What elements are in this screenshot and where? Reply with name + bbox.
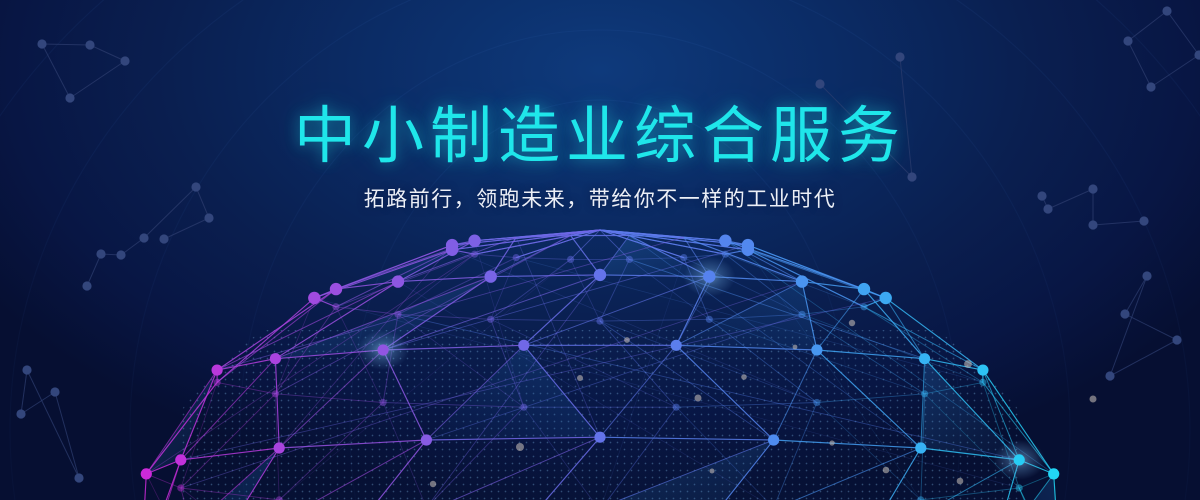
dome-edge xyxy=(516,258,983,383)
dome-node xyxy=(917,496,924,500)
dome-edge xyxy=(1019,488,1060,500)
dome-edge xyxy=(774,350,817,440)
dome-node xyxy=(813,399,820,406)
dome-edge xyxy=(676,407,773,500)
dome-node xyxy=(860,303,867,310)
dome-node xyxy=(1048,468,1059,479)
dome-node xyxy=(175,454,186,465)
dome-node xyxy=(742,239,754,251)
dome-edge xyxy=(475,254,517,257)
dome-node xyxy=(308,292,320,304)
floating-speck xyxy=(516,443,524,451)
dome-edge xyxy=(217,237,684,370)
dome-edge xyxy=(426,407,523,500)
dome-edge xyxy=(600,321,817,402)
dome-edge xyxy=(339,440,426,500)
dome-node xyxy=(706,316,713,323)
dome-edge xyxy=(921,488,1019,500)
dome-edge xyxy=(398,314,524,407)
dome-edge xyxy=(181,382,217,488)
floating-speck xyxy=(577,375,583,381)
dome-edge xyxy=(692,440,774,500)
floating-speck xyxy=(624,337,630,343)
dome-node xyxy=(798,311,805,318)
dome-edge xyxy=(600,319,709,321)
floating-speck xyxy=(849,320,855,326)
dome-node xyxy=(567,256,574,263)
dome-node xyxy=(1016,484,1023,491)
dome-edge xyxy=(339,437,600,500)
dome-node xyxy=(703,270,715,282)
dome-node xyxy=(921,390,928,397)
dome-node xyxy=(811,344,822,355)
dome-node xyxy=(485,270,497,282)
dome-node xyxy=(722,251,729,258)
dome-node xyxy=(214,379,221,386)
dome-edge xyxy=(491,319,600,321)
dome-node xyxy=(177,484,184,491)
floating-speck xyxy=(883,467,890,474)
dome-edge xyxy=(676,345,773,440)
dome-node xyxy=(380,399,387,406)
dome-node xyxy=(212,365,223,376)
dome-edge xyxy=(802,307,864,315)
dome-node xyxy=(796,275,808,287)
dome-edge xyxy=(398,277,491,282)
dome-node xyxy=(626,256,633,263)
dome-edge xyxy=(279,440,426,448)
dome-node xyxy=(471,251,478,258)
hero-banner: 中小制造业综合服务 拓路前行，领跑未来，带给你不一样的工业时代 xyxy=(0,0,1200,500)
dome-node xyxy=(394,311,401,318)
dome-edge xyxy=(886,298,983,370)
dome-node xyxy=(594,432,605,443)
dome-edge xyxy=(398,314,1019,460)
dome-edge xyxy=(210,448,279,500)
dome-edge xyxy=(210,440,426,500)
floating-speck xyxy=(710,469,715,474)
dome-node xyxy=(919,353,930,364)
dome-node xyxy=(1014,454,1025,465)
floating-speck xyxy=(793,345,798,350)
dome-edge xyxy=(217,382,275,393)
dome-edge xyxy=(181,488,340,500)
dome-edge xyxy=(676,403,817,408)
dome-node xyxy=(330,283,342,295)
dome-edge xyxy=(217,289,336,382)
dome-edge xyxy=(181,448,279,460)
dome-edge xyxy=(600,437,774,440)
dome-edge xyxy=(774,403,817,500)
dome-node xyxy=(332,303,339,310)
dome-node xyxy=(513,254,520,261)
dome-node xyxy=(858,283,870,295)
dome-node xyxy=(276,496,283,500)
floating-speck xyxy=(1090,396,1097,403)
dome-node xyxy=(880,292,892,304)
dome-node xyxy=(518,340,529,351)
dome-node xyxy=(392,275,404,287)
dome-node xyxy=(274,442,285,453)
dome-node xyxy=(487,316,494,323)
floating-speck xyxy=(957,478,964,485)
dome-node xyxy=(270,353,281,364)
dome-wireframe xyxy=(0,0,1200,500)
floating-speck xyxy=(695,395,702,402)
dome-node xyxy=(421,434,432,445)
floating-speck xyxy=(964,360,972,368)
dome-node xyxy=(768,434,779,445)
dome-edge xyxy=(336,254,475,307)
dome-node xyxy=(673,404,680,411)
dome-edge xyxy=(1019,488,1060,500)
dome-edge xyxy=(398,282,774,500)
dome-node xyxy=(671,340,682,351)
dome-node xyxy=(468,235,480,247)
dome-edge xyxy=(600,407,676,500)
dome-edge xyxy=(383,275,600,350)
dome-edge xyxy=(774,440,921,448)
floating-speck xyxy=(741,374,747,380)
dome-node xyxy=(272,390,279,397)
dome-node xyxy=(719,235,731,247)
dome-node xyxy=(594,269,606,281)
dome-edge xyxy=(181,488,279,500)
dome-node xyxy=(446,239,458,251)
dome-node xyxy=(977,365,988,376)
dome-node xyxy=(378,344,389,355)
dome-edge xyxy=(426,437,600,440)
dome-node xyxy=(141,468,152,479)
dome-node xyxy=(979,379,986,386)
dome-edge xyxy=(692,448,921,500)
dome-edge xyxy=(886,298,925,359)
dome-node xyxy=(596,318,603,325)
dome-node xyxy=(520,404,527,411)
dome-node xyxy=(915,442,926,453)
floating-speck xyxy=(829,440,834,445)
dome-node xyxy=(680,254,687,261)
floating-speck xyxy=(430,481,436,487)
